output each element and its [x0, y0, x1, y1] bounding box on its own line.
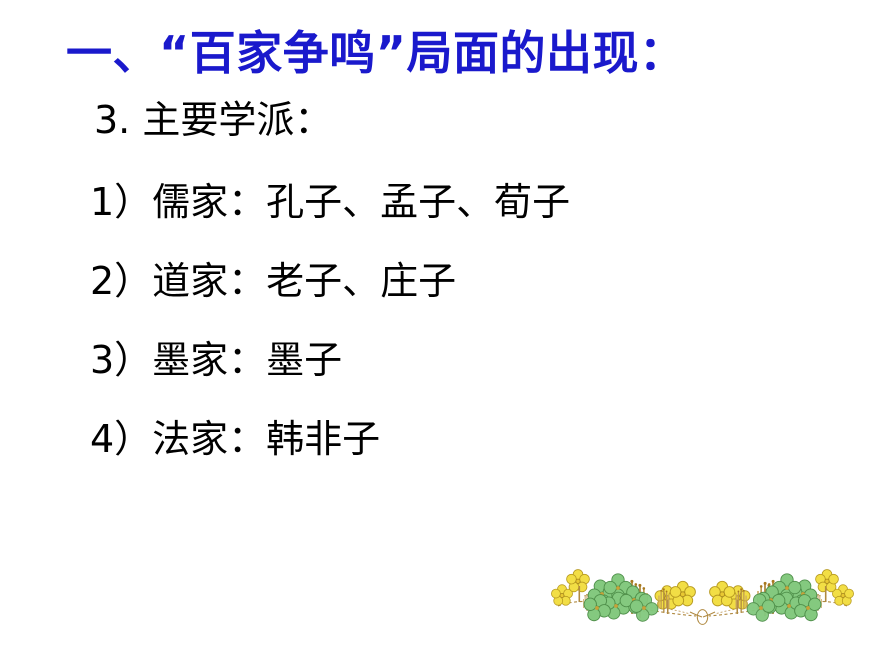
slide-canvas: 一、“百家争鸣”局面的出现： 3. 主要学派： 1）儒家：孔子、孟子、荀子 2）… [0, 0, 870, 653]
list-item: 3）墨家：墨子 [90, 338, 870, 382]
list-item: 4）法家：韩非子 [90, 417, 870, 461]
list-item: 2）道家：老子、庄子 [90, 259, 870, 303]
content-block: 3. 主要学派： 1）儒家：孔子、孟子、荀子 2）道家：老子、庄子 3）墨家：墨… [0, 98, 870, 461]
page-title: 一、“百家争鸣”局面的出现： [66, 25, 846, 81]
section-heading: 3. 主要学派： [94, 98, 870, 142]
list-item: 1）儒家：孔子、孟子、荀子 [90, 180, 870, 224]
floral-divider-icon [540, 548, 865, 638]
